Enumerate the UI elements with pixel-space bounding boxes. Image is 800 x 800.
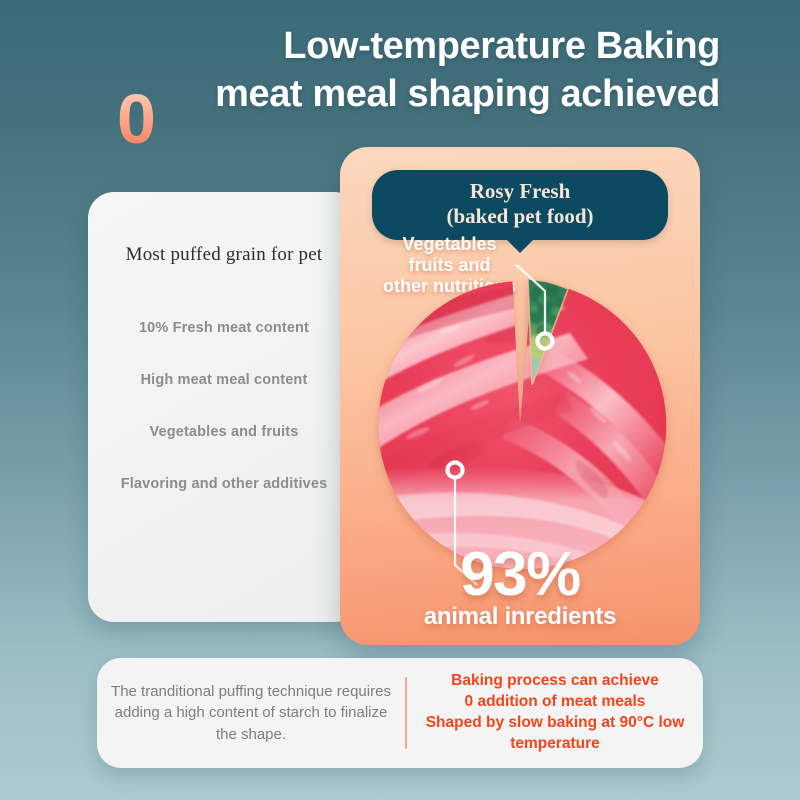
callout-veg-line-1: Vegetables [357,234,542,255]
list-item: Flavoring and other additives [88,476,360,492]
product-name-banner: Rosy Fresh (baked pet food) [372,170,668,240]
left-card-title: Most puffed grain for pet [88,244,360,266]
infographic-poster: 0 Low-temperature Baking meat meal shapi… [0,0,800,800]
list-item: 10% Fresh meat content [88,320,360,336]
baking-benefits-text: Baking process can achieve 0 addition of… [407,671,703,755]
composition-pie-chart [360,265,680,585]
list-item: High meat meal content [88,372,360,388]
product-name-line-1: Rosy Fresh [372,179,668,204]
headline-text: Low-temperature Baking meat meal shaping… [215,22,720,119]
left-card-list: 10% Fresh meat content High meat meal co… [88,320,360,528]
headline-line-2: meat meal shaping achieved [215,70,720,118]
percentage-caption: animal inredients [340,603,700,631]
product-name-line-2: (baked pet food) [372,204,668,229]
headline-block: 0 Low-temperature Baking meat meal shapi… [110,22,720,142]
pie-slice-animal-ingredients [360,282,680,586]
benefit-line-3: Shaped by slow baking at 90°C low [417,713,693,734]
comparison-card: The tranditional puffing technique requi… [97,658,703,768]
benefit-line-2: 0 addition of meat meals [417,692,693,713]
zero-badge: 0 [117,84,155,154]
left-info-card: Most puffed grain for pet 10% Fresh meat… [88,192,360,622]
headline-line-1: Low-temperature Baking [215,22,720,70]
traditional-method-text: The tranditional puffing technique requi… [97,681,405,745]
product-name-pill: Rosy Fresh (baked pet food) [372,170,668,240]
list-item: Vegetables and fruits [88,424,360,440]
benefit-line-1: Baking process can achieve [417,671,693,692]
product-highlight-card: Rosy Fresh (baked pet food) Vegetables f… [340,147,700,645]
benefit-line-4: temperature [417,734,693,755]
